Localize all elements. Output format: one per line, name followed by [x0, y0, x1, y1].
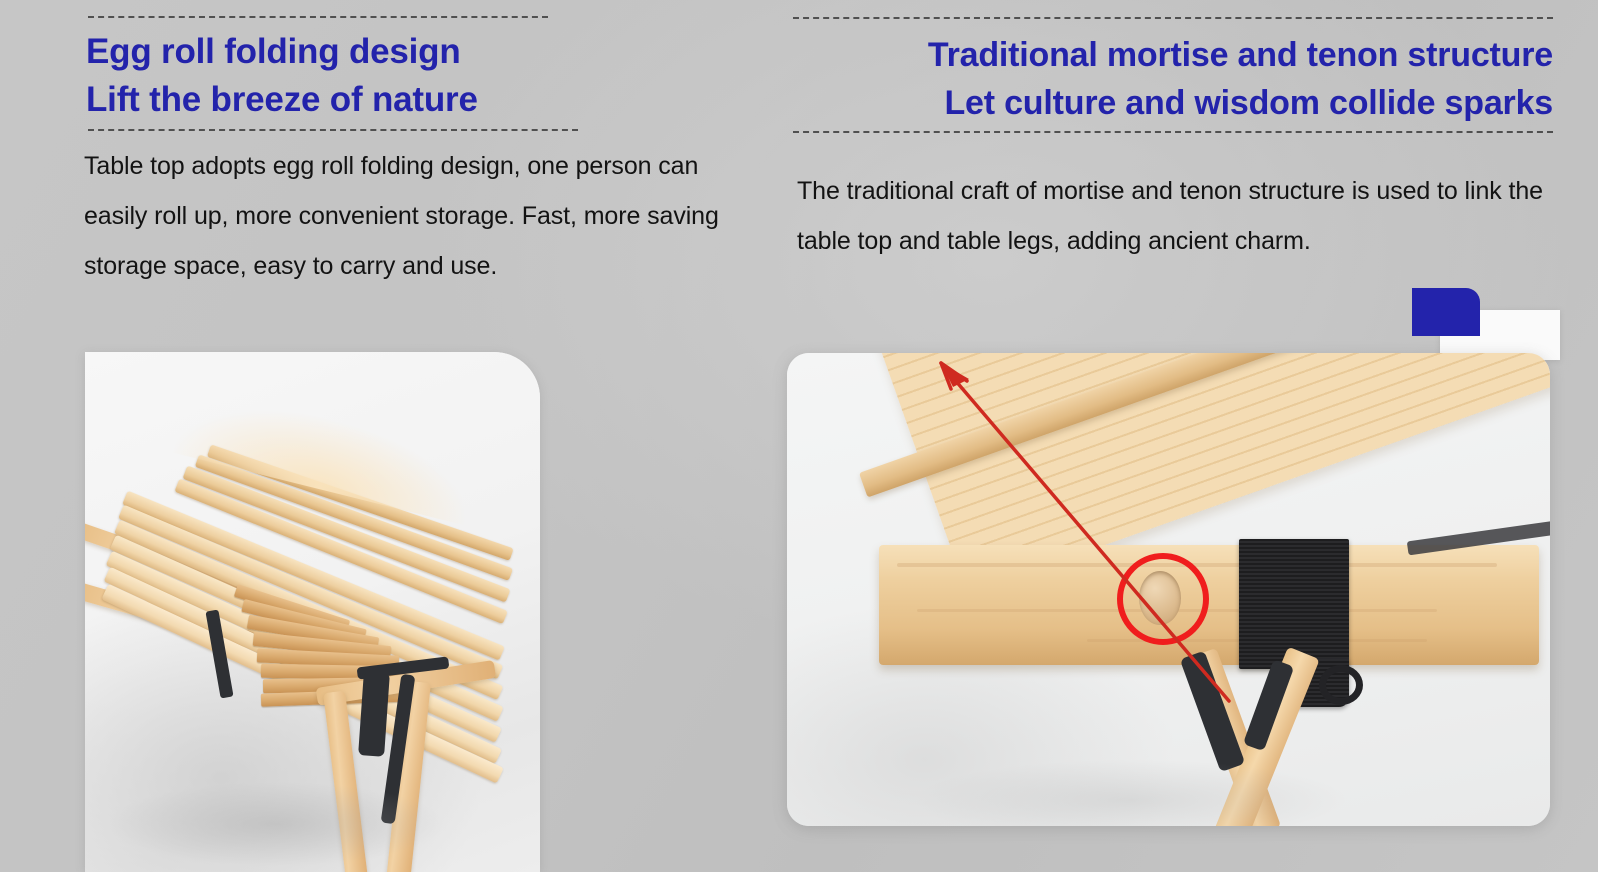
leg-hinge-bracket-left: [358, 671, 390, 757]
left-heading-line2: Lift the breeze of nature: [86, 76, 478, 124]
left-body-text: Table top adopts egg roll folding design…: [84, 141, 732, 291]
left-product-photo: [85, 352, 540, 872]
strap-d-ring: [1319, 665, 1363, 705]
left-photo-backdrop: [85, 352, 540, 872]
floor-shadow: [85, 752, 540, 872]
left-heading: Egg roll folding design Lift the breeze …: [86, 28, 478, 124]
divider-right-bottom: [793, 131, 1553, 133]
left-heading-line1: Egg roll folding design: [86, 32, 461, 71]
right-product-photo: [787, 353, 1550, 826]
right-photo-backdrop: [787, 353, 1550, 826]
divider-left-top: [88, 16, 548, 18]
corner-badge: [1412, 288, 1572, 348]
floor-shadow: [787, 723, 1550, 826]
right-body-text: The traditional craft of mortise and ten…: [797, 166, 1557, 266]
right-heading-line1: Traditional mortise and tenon structure: [928, 36, 1553, 74]
right-heading-line2: Let culture and wisdom collide sparks: [793, 79, 1553, 127]
divider-left-bottom: [88, 129, 578, 131]
right-heading: Traditional mortise and tenon structure …: [793, 31, 1553, 127]
annotation-arrow-icon: [917, 353, 1247, 729]
divider-right-top: [793, 17, 1553, 19]
badge-blue-square: [1412, 288, 1480, 336]
